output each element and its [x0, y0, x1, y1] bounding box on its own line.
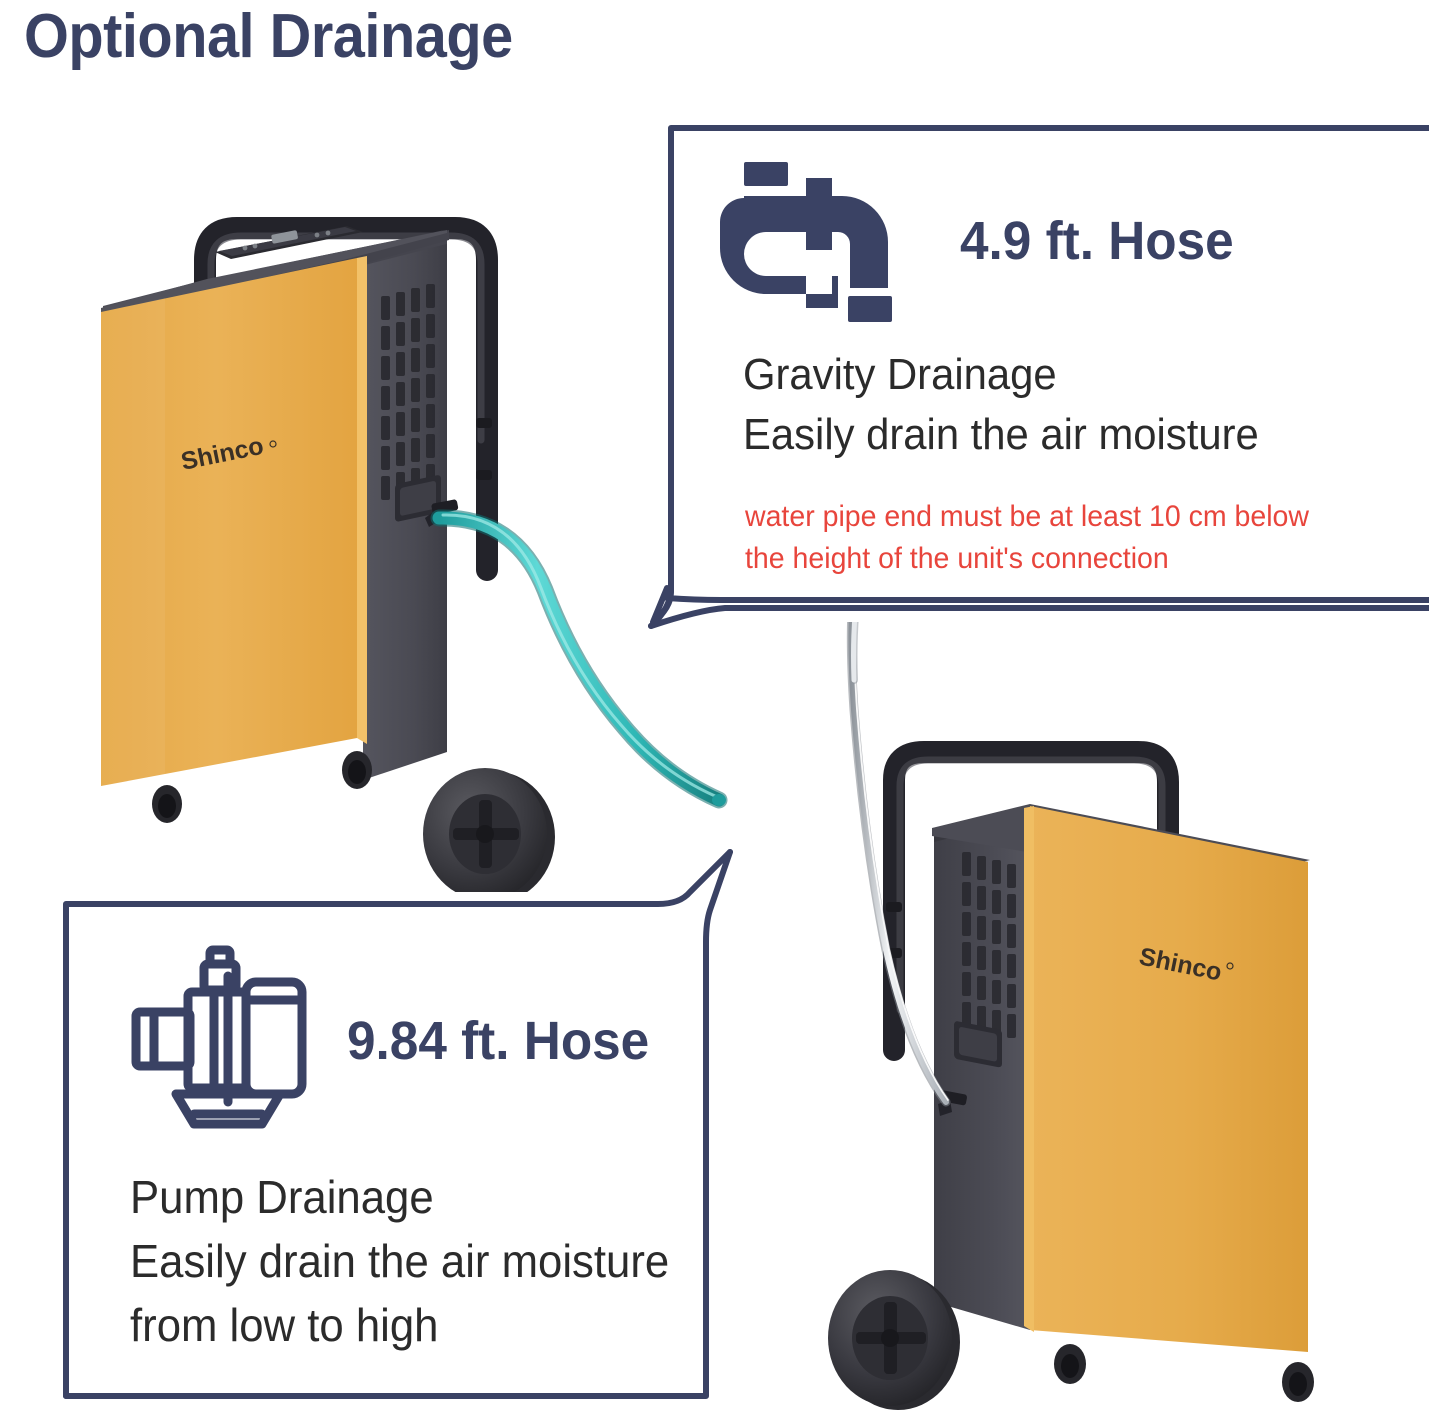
page-title: Optional Drainage: [24, 4, 513, 69]
dehumidifier-gravity-svg: Shinco: [95, 140, 755, 830]
gravity-line-2: Easily drain the air moisture: [743, 410, 1259, 460]
pump-headline: 9.84 ft. Hose: [347, 1010, 649, 1072]
pipe-elbow-icon: [740, 160, 900, 330]
pump-line-1: Pump Drainage: [130, 1170, 434, 1224]
callout-pump-drainage: 9.84 ft. Hose Pump Drainage Easily drain…: [62, 892, 722, 1400]
gravity-headline: 4.9 ft. Hose: [960, 210, 1234, 272]
pump-line-3: from low to high: [130, 1298, 438, 1352]
water-pump-icon: [128, 942, 328, 1127]
product-image-pump-unit: Shinco: [838, 630, 1398, 1410]
pump-line-2: Easily drain the air moisture: [130, 1234, 669, 1288]
dehumidifier-pump-svg: Shinco: [838, 630, 1398, 1410]
infographic-canvas: Optional Drainage: [0, 0, 1429, 1410]
rear-wheel: [423, 768, 555, 903]
caster-wheels: [1054, 1344, 1314, 1402]
gravity-warning-line-1: water pipe end must be at least 10 cm be…: [745, 500, 1309, 534]
gravity-line-1: Gravity Drainage: [743, 350, 1057, 400]
gravity-warning-line-2: the height of the unit's connection: [745, 542, 1169, 576]
product-image-gravity-unit: Shinco: [95, 140, 755, 830]
callout-gravity-drainage: 4.9 ft. Hose Gravity Drainage Easily dra…: [665, 122, 1429, 622]
